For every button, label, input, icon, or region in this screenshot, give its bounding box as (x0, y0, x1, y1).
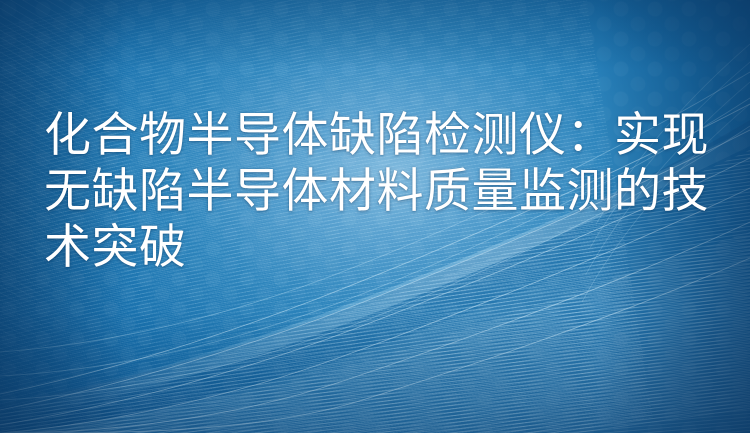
banner-canvas: 化合物半导体缺陷检测仪：实现无缺陷半导体材料质量监测的技术突破 (0, 0, 750, 433)
banner-title: 化合物半导体缺陷检测仪：实现无缺陷半导体材料质量监测的技术突破 (44, 108, 728, 276)
title-block: 化合物半导体缺陷检测仪：实现无缺陷半导体材料质量监测的技术突破 (44, 108, 728, 276)
